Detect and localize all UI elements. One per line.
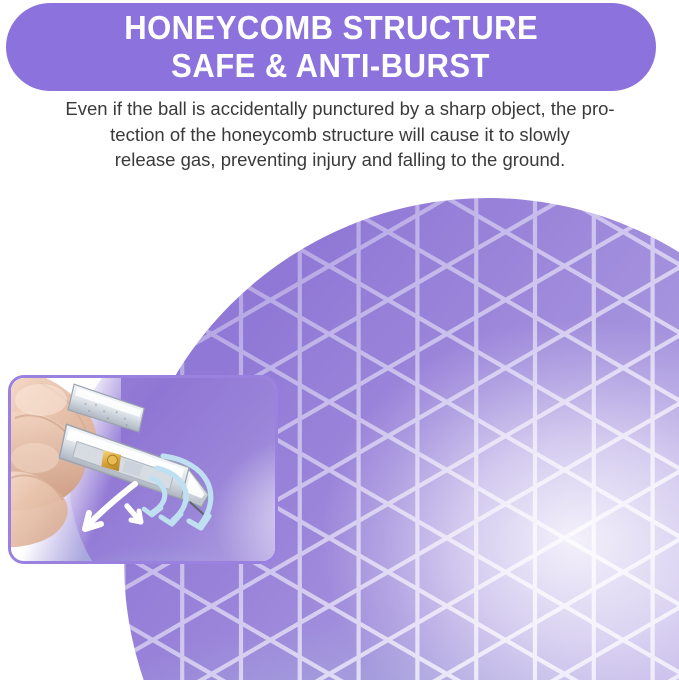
banner-title-line-1: HONEYCOMB STRUCTURE <box>124 9 538 47</box>
description-paragraph: Even if the ball is accidentally punctur… <box>22 96 658 173</box>
description-line-2: tection of the honeycomb structure will … <box>22 122 658 148</box>
header-banner: HONEYCOMB STRUCTURE SAFE & ANTI-BURST <box>6 3 656 91</box>
banner-title-line-2: SAFE & ANTI-BURST <box>172 47 491 85</box>
description-line-3: release gas, preventing injury and falli… <box>22 147 658 173</box>
description-line-1: Even if the ball is accidentally punctur… <box>22 96 658 122</box>
product-scene: APEXUP <box>0 178 679 680</box>
inset-illustration <box>11 378 275 561</box>
inset-detail-photo <box>8 375 278 564</box>
